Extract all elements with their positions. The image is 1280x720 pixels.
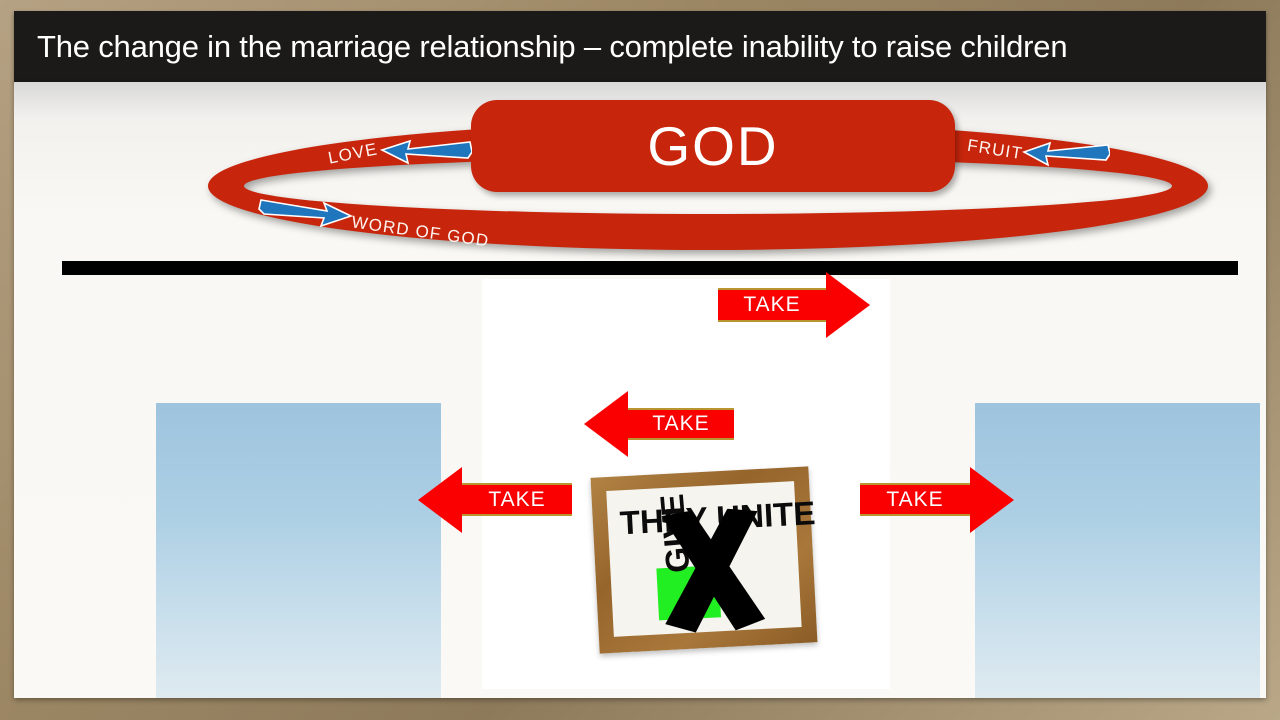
cross-out-x-icon (651, 507, 773, 639)
page-title: The change in the marriage relationship … (14, 29, 1067, 65)
sky-background-2 (975, 403, 1260, 698)
sign-board: THEY UNITE GIVE (591, 466, 818, 653)
sky-background (156, 403, 441, 698)
photo-children-right (975, 403, 1260, 698)
take-arrow-to-left-children: TAKE (462, 483, 572, 516)
slide-title-bar: The change in the marriage relationship … (14, 11, 1266, 83)
take-arrow-to-right-children: TAKE (860, 483, 970, 516)
take-arrow-inner-left: TAKE (628, 408, 734, 440)
section-divider (62, 261, 1238, 275)
photo-children-left (156, 403, 441, 698)
take-arrow-up-right: TAKE (718, 288, 826, 322)
sign-surface: THEY UNITE GIVE (606, 481, 801, 637)
slide: The change in the marriage relationship … (0, 0, 1280, 720)
